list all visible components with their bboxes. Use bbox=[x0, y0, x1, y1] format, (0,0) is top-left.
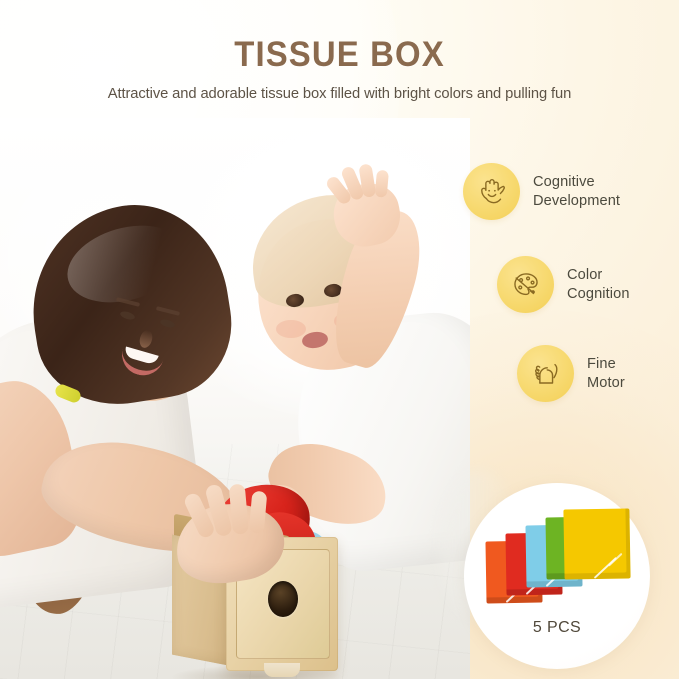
paint-palette-icon bbox=[508, 267, 544, 303]
page-title: TISSUE BOX bbox=[20, 0, 658, 72]
feature-badge-circle bbox=[463, 163, 520, 220]
pieces-count-label: 5 PCS bbox=[464, 619, 650, 637]
feature-badge-circle bbox=[497, 256, 554, 313]
lifestyle-photo bbox=[0, 118, 470, 679]
feature-badge-circle bbox=[517, 345, 574, 402]
hand-smiley-icon bbox=[474, 174, 510, 210]
swatch-highlight-secondary bbox=[608, 553, 623, 567]
feature-badge-label: Color Cognition bbox=[567, 266, 630, 302]
feature-badge-cognitive-development[interactable]: Cognitive Development bbox=[463, 163, 620, 220]
swatch-yellow bbox=[563, 508, 630, 579]
fabric-swatch-stack bbox=[478, 507, 638, 611]
baby-cheek-left bbox=[276, 320, 306, 338]
feature-badge-fine-motor[interactable]: Fine Motor bbox=[517, 345, 625, 402]
feature-badge-label: Fine Motor bbox=[587, 355, 625, 391]
baby-finger bbox=[375, 170, 389, 198]
box-pull-hole bbox=[268, 581, 298, 617]
page-subtitle: Attractive and adorable tissue box fille… bbox=[10, 72, 669, 103]
feature-badge-label: Cognitive Development bbox=[533, 173, 620, 209]
box-foot-notch bbox=[264, 663, 300, 677]
mother-finger bbox=[249, 491, 268, 534]
feature-badge-color-cognition[interactable]: Color Cognition bbox=[497, 256, 630, 313]
hand-grasp-block-icon bbox=[528, 356, 564, 392]
product-graphic: TISSUE BOX Attractive and adorable tissu… bbox=[0, 0, 679, 679]
header: TISSUE BOX Attractive and adorable tissu… bbox=[0, 0, 679, 103]
pieces-count-card[interactable]: 5 PCS bbox=[464, 483, 650, 669]
